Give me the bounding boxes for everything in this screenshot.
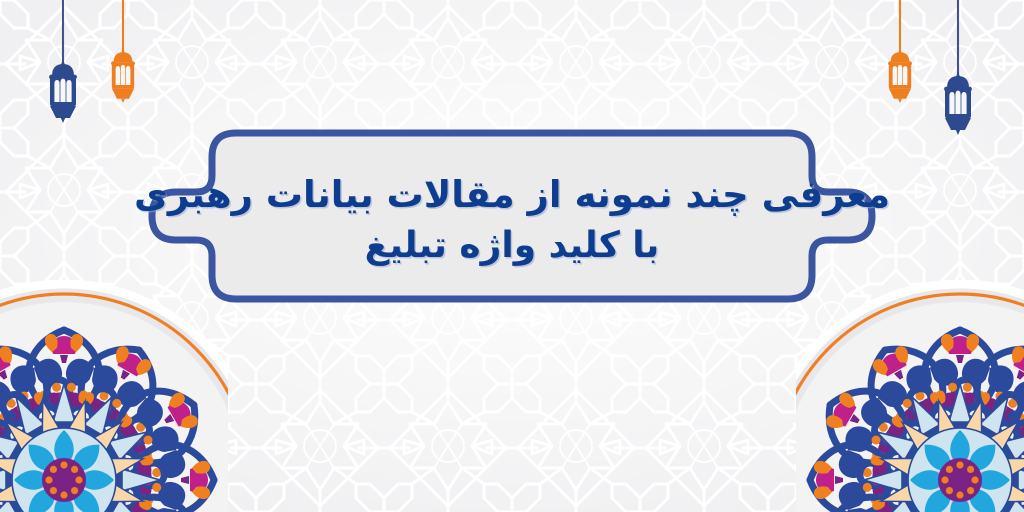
- banner-canvas: معرفی چند نمونه از مقالات بیانات رهبری ب…: [0, 0, 1024, 512]
- title-layer: معرفی چند نمونه از مقالات بیانات رهبری ب…: [0, 0, 1024, 512]
- title-line-1: معرفی چند نمونه از مقالات بیانات رهبری: [134, 171, 890, 220]
- title-line-2: با کلید واژه تبلیغ: [365, 222, 660, 270]
- banner-title: معرفی چند نمونه از مقالات بیانات رهبری ب…: [196, 150, 828, 290]
